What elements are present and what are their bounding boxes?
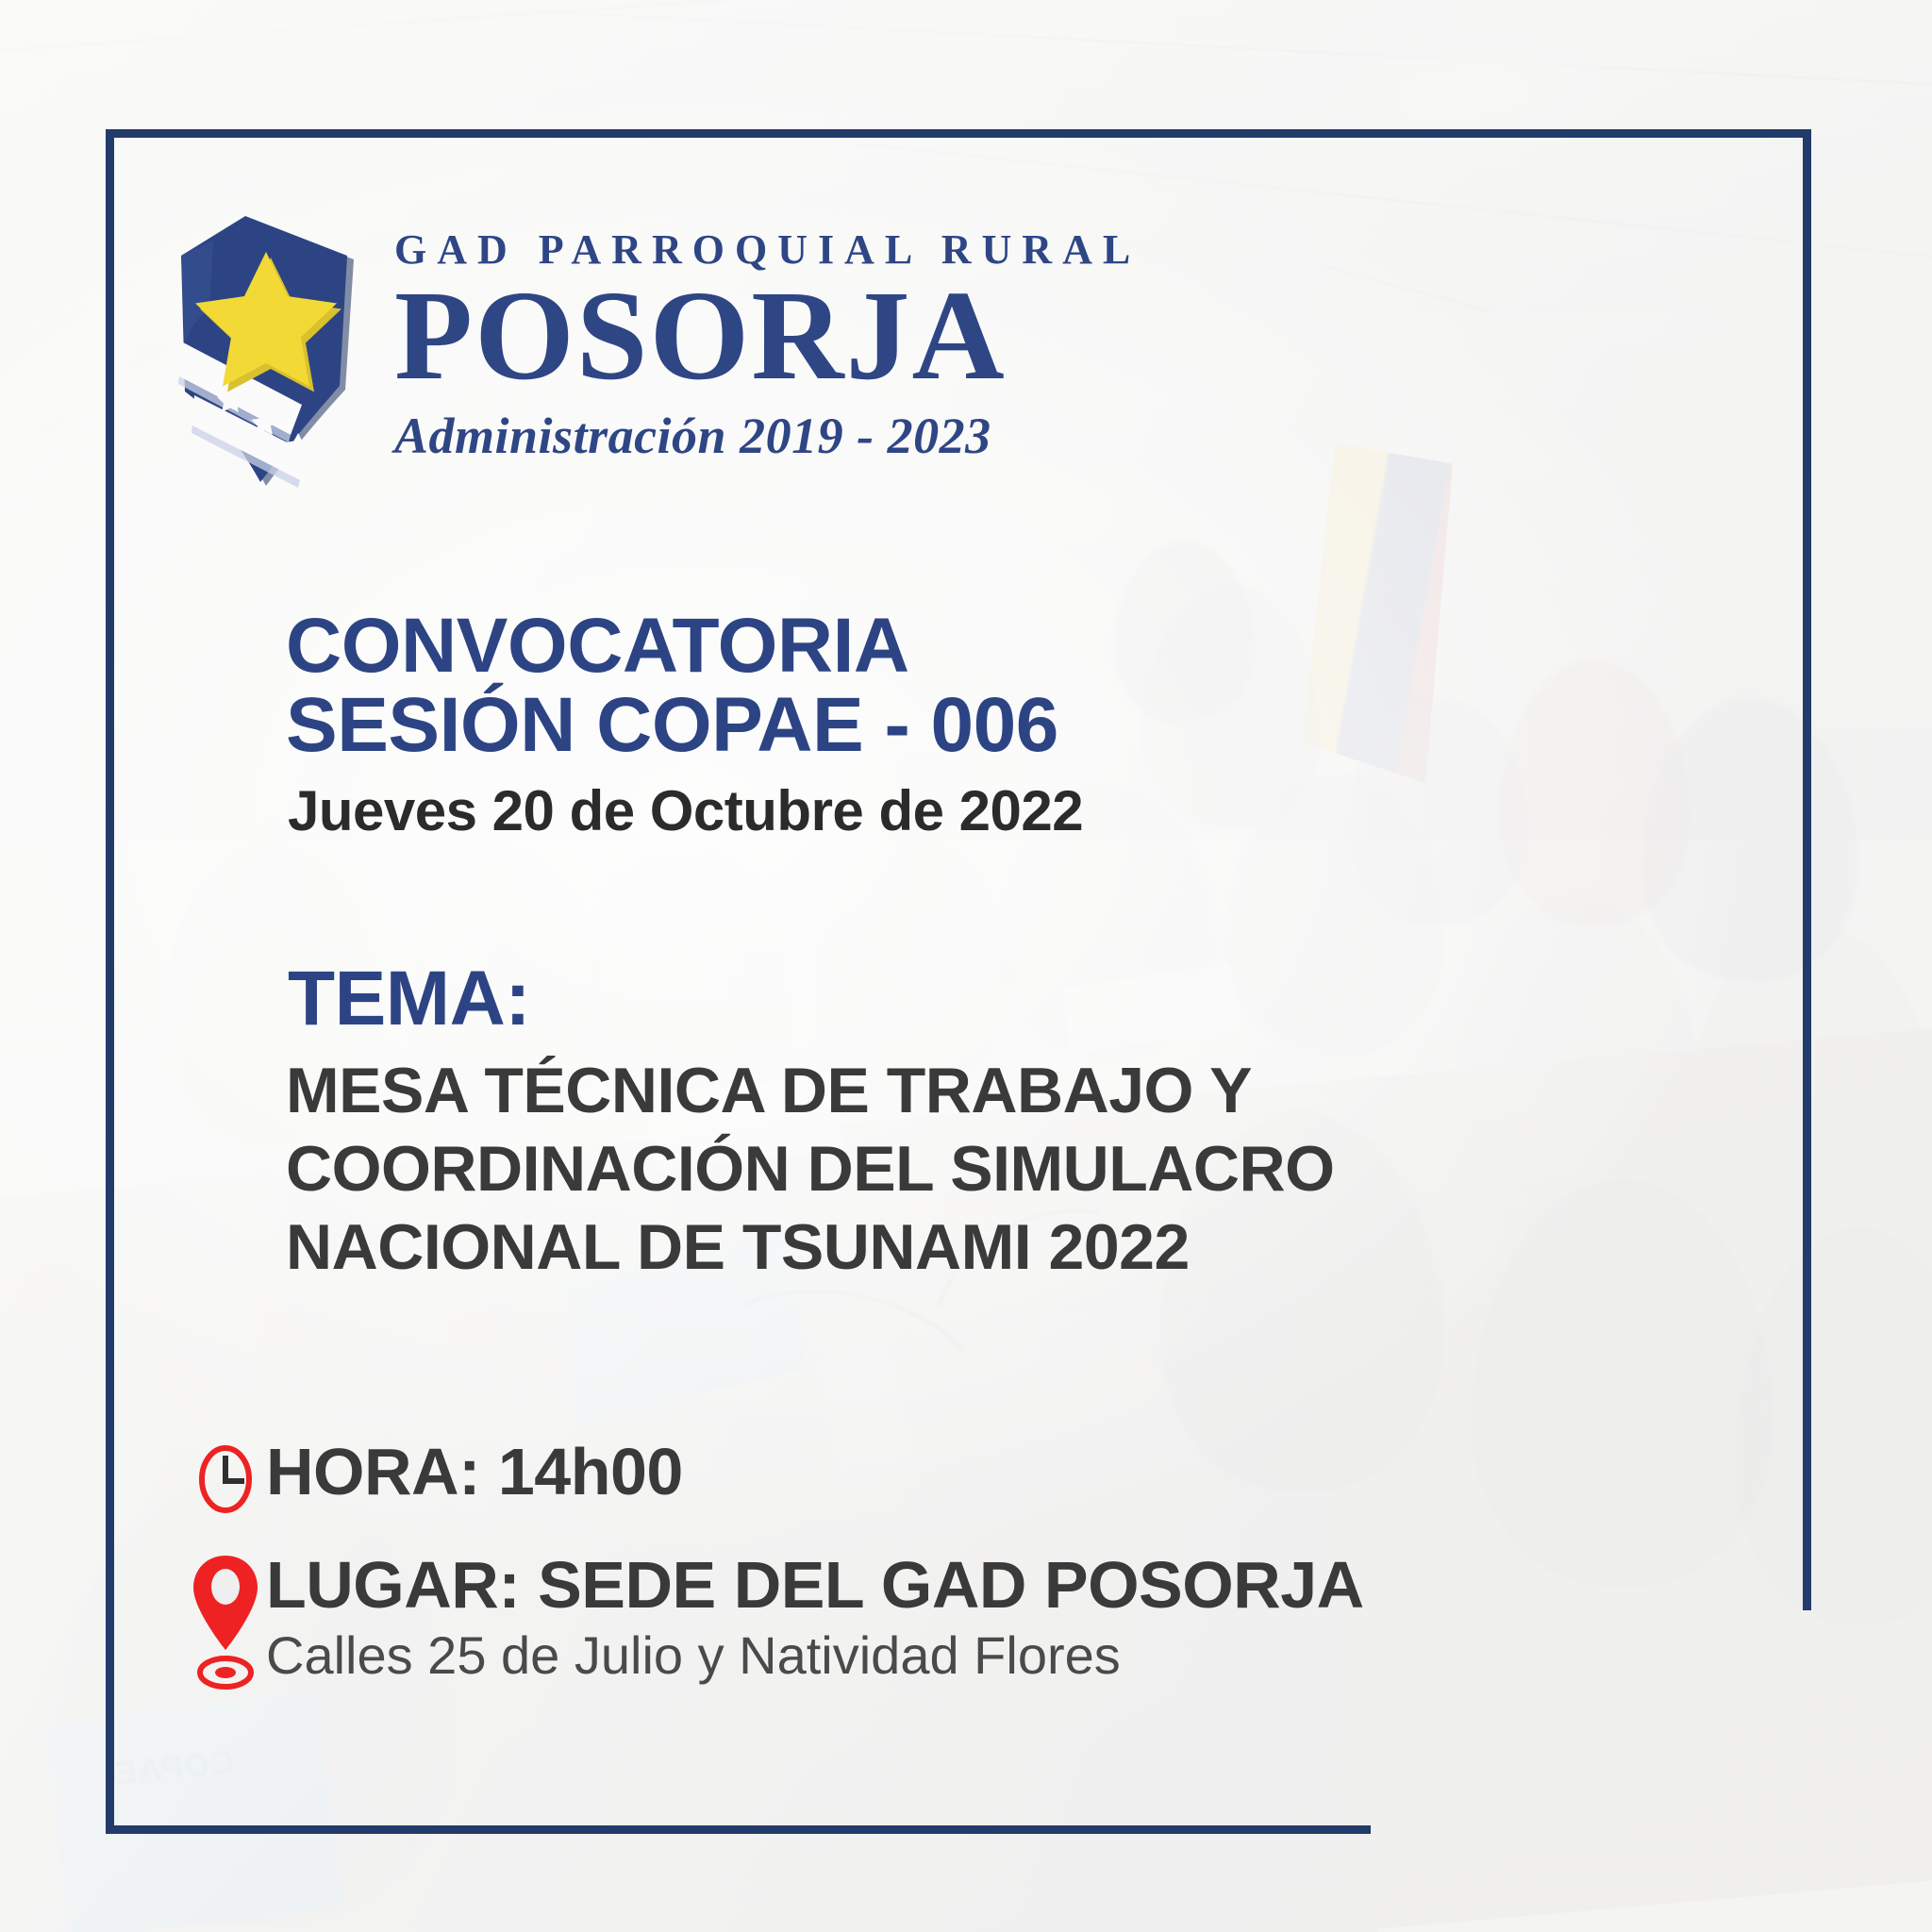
clock-icon-wrap: [185, 1439, 266, 1520]
tema-line3: NACIONAL DE TSUNAMI 2022: [286, 1208, 1335, 1287]
map-pin-icon-wrap: [185, 1552, 266, 1691]
poster-canvas: COPAE: [0, 0, 1932, 1932]
shield-star-icon: [160, 210, 377, 493]
clock-icon: [192, 1439, 259, 1520]
tema-line1: MESA TÉCNICA DE TRABAJO Y: [286, 1052, 1335, 1130]
event-details: HORA: 14h00 LUGAR: SEDE DEL GAD POSORJA …: [185, 1439, 1506, 1691]
event-place-row: LUGAR: SEDE DEL GAD POSORJA Calles 25 de…: [185, 1552, 1506, 1691]
event-time-row: HORA: 14h00: [185, 1439, 1506, 1520]
event-date: Jueves 20 de Octubre de 2022: [288, 778, 1083, 843]
event-place-text: LUGAR: SEDE DEL GAD POSORJA: [266, 1552, 1364, 1619]
logo-lockup: GAD PARROQUIAL RURAL POSORJA Administrac…: [160, 203, 1141, 493]
page-title-line1: CONVOCATORIA: [286, 607, 1058, 686]
logo-administration: Administración 2019 - 2023: [394, 407, 1141, 465]
poster-content: GAD PARROQUIAL RURAL POSORJA Administrac…: [0, 0, 1932, 1932]
tema-line2: COORDINACIÓN DEL SIMULACRO: [286, 1130, 1335, 1208]
map-pin-icon: [190, 1552, 261, 1691]
tema-body: MESA TÉCNICA DE TRABAJO Y COORDINACIÓN D…: [286, 1052, 1335, 1287]
event-time-text: HORA: 14h00: [266, 1439, 683, 1506]
page-title-line2: SESIÓN COPAE - 006: [286, 686, 1058, 765]
logo-name: POSORJA: [394, 277, 1141, 395]
event-place-block: LUGAR: SEDE DEL GAD POSORJA Calles 25 de…: [266, 1552, 1364, 1686]
tema-label: TEMA:: [288, 955, 530, 1043]
logo-wordmark: GAD PARROQUIAL RURAL POSORJA Administrac…: [394, 203, 1141, 465]
event-address-text: Calles 25 de Julio y Natividad Flores: [266, 1624, 1364, 1686]
page-title: CONVOCATORIA SESIÓN COPAE - 006: [286, 607, 1058, 766]
